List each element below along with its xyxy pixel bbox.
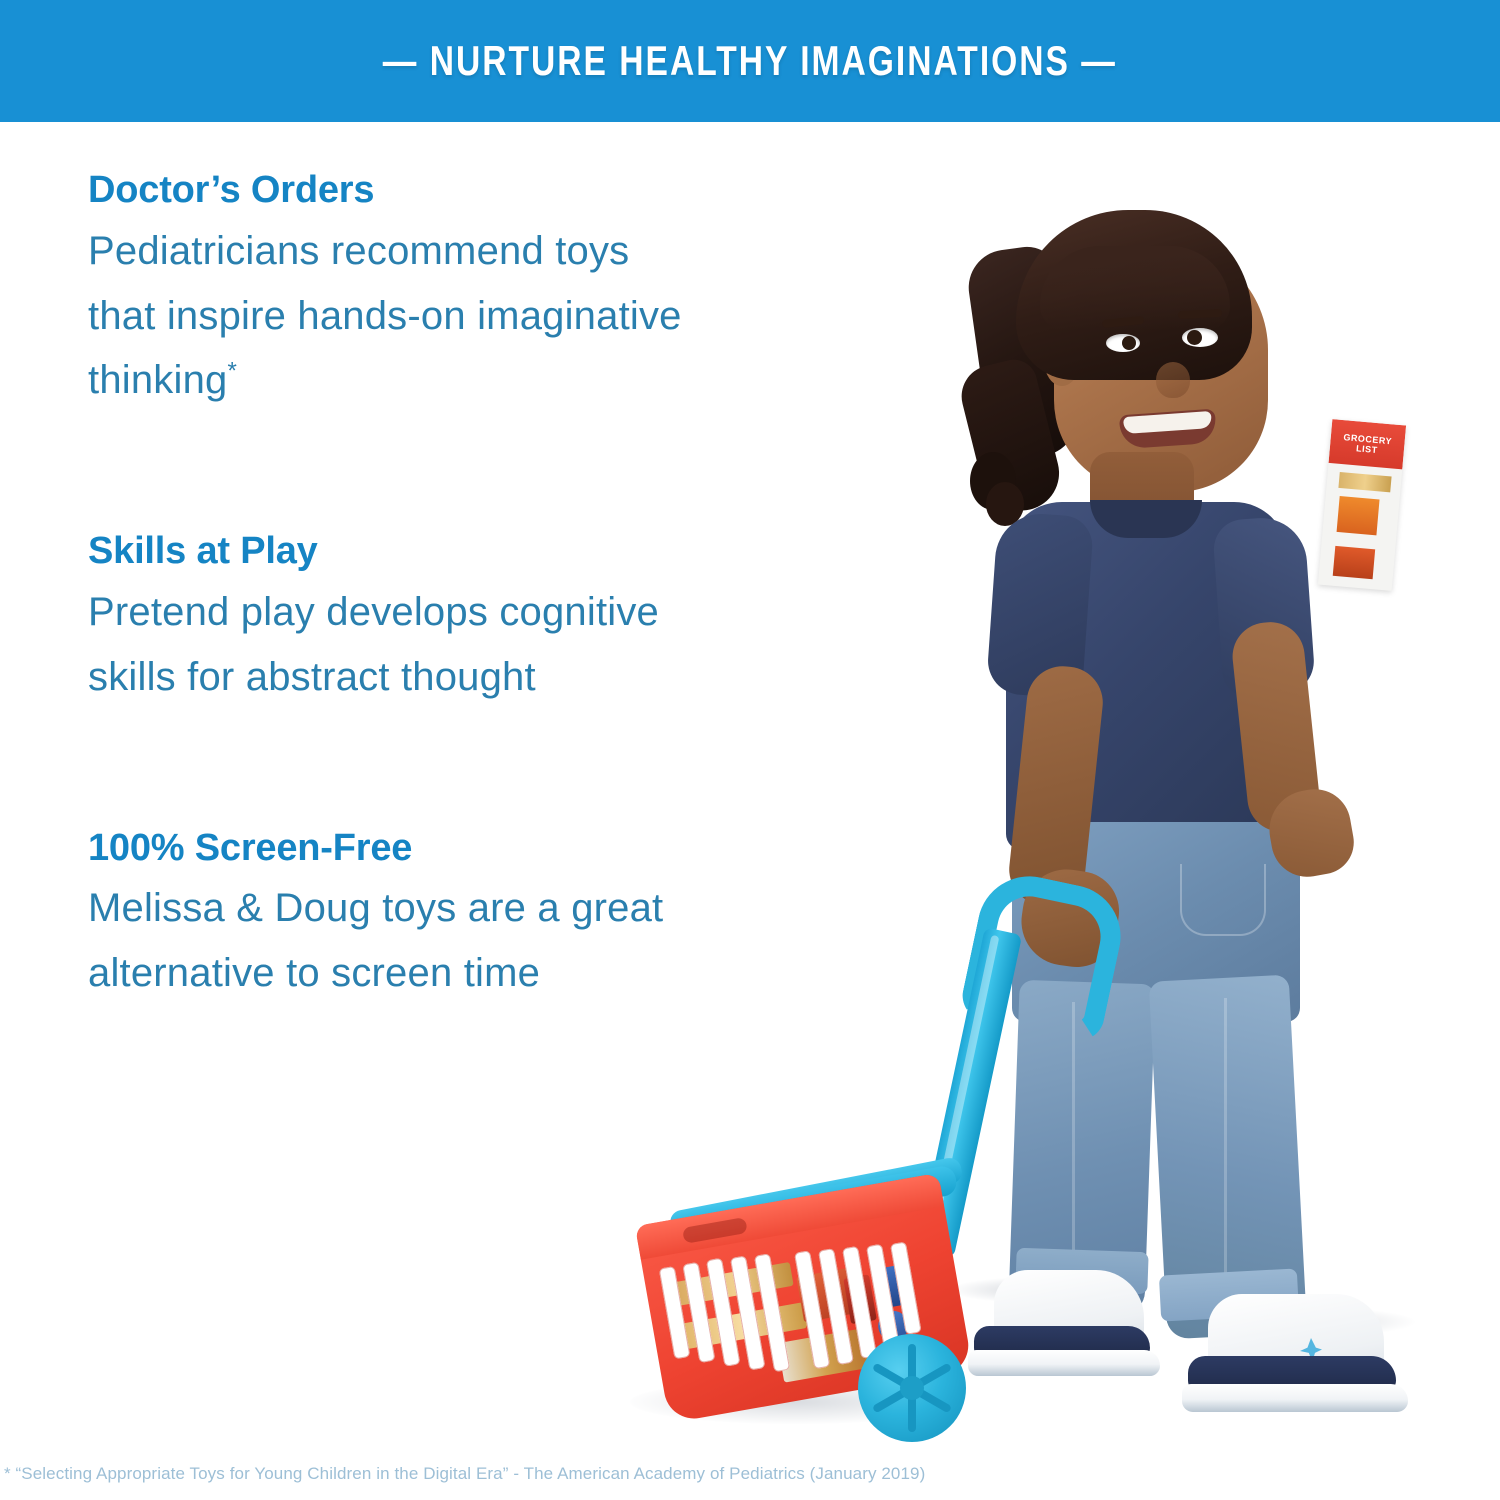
grocery-list-card-header: GROCERY LIST <box>1329 419 1407 469</box>
grocery-list-label-line2: LIST <box>1356 443 1378 455</box>
feature-title-skills-at-play: Skills at Play <box>88 529 688 574</box>
jeans-seam <box>1072 1002 1075 1292</box>
jeans-back-pocket <box>1180 864 1266 936</box>
feature-body-skills-at-play: Pretend play develops cognitive skills f… <box>88 580 688 710</box>
banner-title: — NURTURE HEALTHY IMAGINATIONS — <box>383 37 1117 85</box>
feature-body-text: Pediatricians recommend toys that inspir… <box>88 229 682 403</box>
toy-shopping-cart <box>620 1002 1040 1422</box>
feature-title-screen-free: 100% Screen-Free <box>88 826 688 871</box>
header-banner: — NURTURE HEALTHY IMAGINATIONS — <box>0 0 1500 122</box>
nose <box>1156 362 1190 398</box>
feature-block-doctors-orders: Doctor’s Orders Pediatricians recommend … <box>88 168 688 413</box>
product-lifestyle-photo: GROCERY LIST <box>620 122 1500 1478</box>
sneaker-right <box>1180 1294 1412 1416</box>
pupil <box>1122 336 1136 350</box>
grocery-card-item <box>1337 496 1380 535</box>
feature-copy-column: Doctor’s Orders Pediatricians recommend … <box>88 168 688 1006</box>
cart-wheel <box>858 1334 966 1442</box>
feature-title-doctors-orders: Doctor’s Orders <box>88 168 688 213</box>
eye-left <box>1106 334 1140 352</box>
sneaker-sole <box>1182 1384 1408 1412</box>
teeth <box>1123 411 1212 434</box>
grocery-card-item <box>1338 472 1391 492</box>
grocery-card-item <box>1333 546 1375 579</box>
grocery-list-card: GROCERY LIST <box>1318 419 1406 591</box>
feature-body-screen-free: Melissa & Doug toys are a great alternat… <box>88 876 688 1006</box>
footnote-citation: * “Selecting Appropriate Toys for Young … <box>4 1464 925 1484</box>
jeans-seam <box>1224 998 1227 1308</box>
wheel-hub <box>900 1376 924 1400</box>
footnote-marker: * <box>227 358 237 385</box>
pupil <box>1187 330 1202 345</box>
eye-right <box>1182 328 1218 347</box>
feature-block-skills-at-play: Skills at Play Pretend play develops cog… <box>88 529 688 709</box>
feature-block-screen-free: 100% Screen-Free Melissa & Doug toys are… <box>88 826 688 1006</box>
feature-body-doctors-orders: Pediatricians recommend toys that inspir… <box>88 219 688 413</box>
